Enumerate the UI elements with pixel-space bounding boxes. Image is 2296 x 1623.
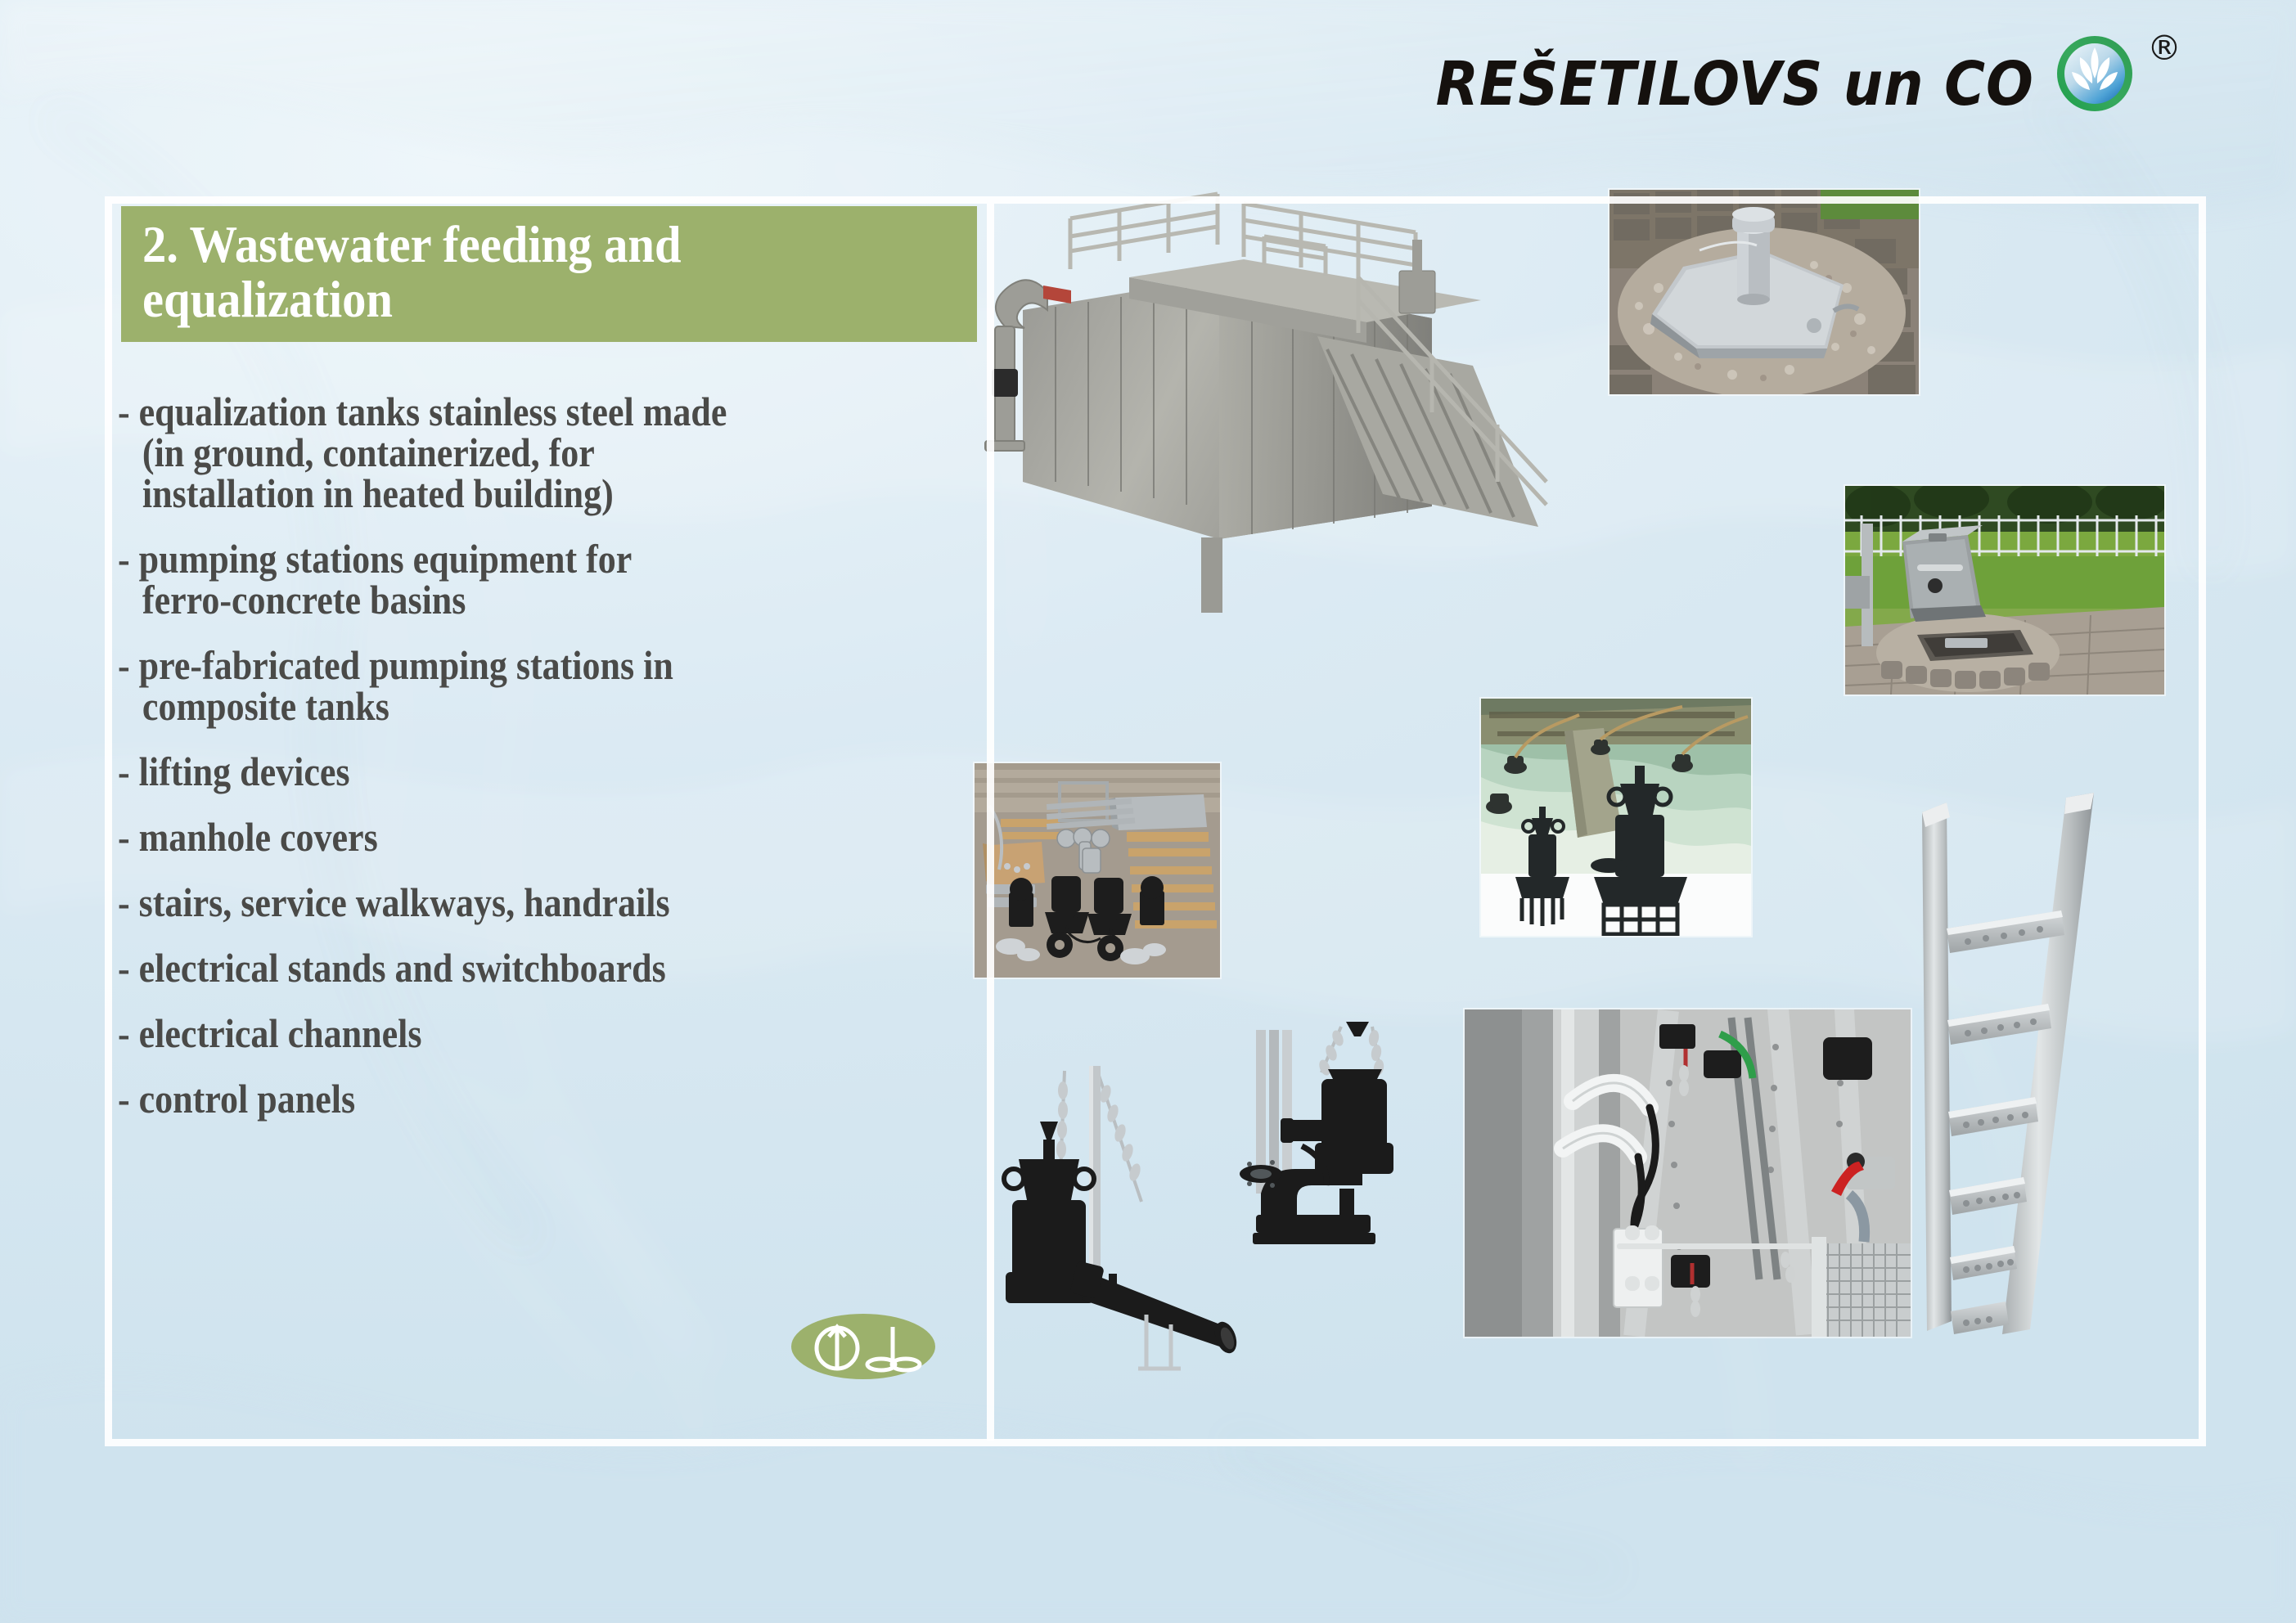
bullet-line: - stairs, service walkways, handrails [118, 882, 881, 923]
bullet-line: (in ground, containerized, for [118, 432, 881, 473]
photo-stainless-steel-ladder [1909, 785, 2138, 1341]
bullet-line: installation in heated building) [118, 473, 881, 514]
brand-wordmark: REŠETILOVS un CO [1436, 49, 2034, 119]
bullet-line: - manhole covers [118, 816, 881, 857]
photo-pumping-station-equipment-in-workshop [975, 763, 1220, 978]
registered-trademark-icon: ® [2147, 31, 2181, 65]
bullet-item: - lifting devices [118, 751, 881, 792]
bullet-line: - electrical stands and switchboards [118, 947, 881, 988]
photo-submersible-pump-on-guide-rail [1217, 1022, 1438, 1308]
photo-equalization-tank-with-stairs-and-handrails [974, 155, 1563, 613]
bullet-item: - stairs, service walkways, handrails [118, 882, 881, 923]
photo-submersible-aerators-in-basin [1481, 699, 1751, 936]
bullet-line: - electrical channels [118, 1013, 881, 1054]
bullet-item: - manhole covers [118, 816, 881, 857]
page-title: 2. Wastewater feeding and equalization [142, 218, 900, 327]
bullet-item: - pumping stations equipment forferro-co… [118, 538, 881, 620]
leaf-circle-logo-icon [2041, 34, 2149, 113]
bullet-list: - equalization tanks stainless steel mad… [118, 391, 985, 1144]
bullet-line: ferro-concrete basins [118, 579, 881, 620]
bullet-line: - lifting devices [118, 751, 881, 792]
column-divider [987, 204, 994, 1441]
pump-and-mixer-badge-icon [790, 1309, 937, 1384]
slide-title-box: 2. Wastewater feeding and equalization [121, 206, 977, 342]
bullet-line: - pumping stations equipment for [118, 538, 881, 579]
photo-collage [994, 204, 2206, 1441]
header-brand-bar: REŠETILOVS un CO ® [0, 0, 2296, 180]
bullet-line: - pre-fabricated pumping stations in [118, 645, 881, 686]
bullet-item: - pre-fabricated pumping stations incomp… [118, 645, 881, 726]
bullet-item: - control panels [118, 1078, 881, 1119]
bullet-item: - electrical channels [118, 1013, 881, 1054]
bullet-line: - equalization tanks stainless steel mad… [118, 391, 881, 432]
bullet-item: - electrical stands and switchboards [118, 947, 881, 988]
bullet-item: - equalization tanks stainless steel mad… [118, 391, 881, 514]
photo-pumping-station-interior-guide-rails [1465, 1009, 1911, 1337]
photo-hexagonal-manhole-cover-with-vent-pipe [1609, 190, 1919, 394]
bullet-line: - control panels [118, 1078, 881, 1119]
bullet-line: composite tanks [118, 686, 881, 726]
photo-open-manhole-hatch-on-lawn [1845, 486, 2164, 695]
